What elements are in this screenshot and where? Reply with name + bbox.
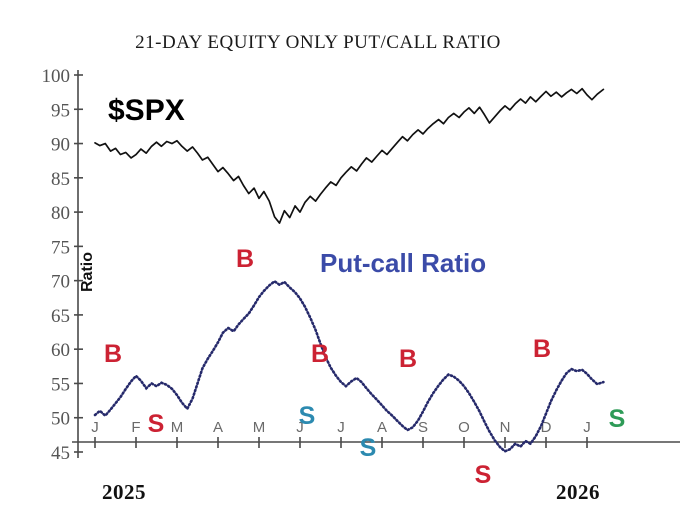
y-axis-tick-label: 50 [51,409,70,430]
sell-marker: S [609,405,626,433]
y-axis-tick-label: 45 [51,443,70,464]
y-axis-tick-label: 90 [51,135,70,156]
put-call-ratio-series-label: Put-call Ratio [320,248,486,278]
x-axis-month-label: O [458,419,470,436]
chart-svg: 21-DAY EQUITY ONLY PUT/CALL RATIO 455055… [0,0,700,525]
y-axis-title: Ratio [79,252,96,292]
x-axis-month-label: S [418,419,428,436]
x-axis-month-label: A [377,419,387,436]
x-axis-month-label: J [337,419,345,436]
buy-marker: B [236,245,254,273]
x-axis-month-label: A [213,419,223,436]
x-axis-month-label: M [253,419,266,436]
year-label-2025: 2025 [102,480,146,504]
y-axis-tick-label: 55 [51,374,70,395]
x-axis-month-label: J [583,419,591,436]
buy-marker: B [104,340,122,368]
x-axis-month-label: F [131,419,140,436]
buy-marker: B [399,345,417,373]
x-axis-month-label: N [500,419,511,436]
y-axis-tick-label: 75 [51,237,70,258]
sell-marker: S [360,434,377,462]
year-label-2026: 2026 [556,480,600,504]
sell-marker: S [299,402,316,430]
x-axis-month-label: J [91,419,99,436]
y-axis-tick-label: 80 [51,203,70,224]
sell-marker: S [475,461,492,489]
chart-container: 21-DAY EQUITY ONLY PUT/CALL RATIO 455055… [0,0,700,525]
y-axis-tick-label: 85 [51,169,70,190]
x-axis-month-label: M [171,419,184,436]
buy-marker: B [533,335,551,363]
sell-marker: S [148,410,165,438]
chart-title: 21-DAY EQUITY ONLY PUT/CALL RATIO [135,32,501,53]
y-axis-tick-label: 70 [51,272,70,293]
y-axis-tick-label: 65 [51,306,70,327]
buy-marker: B [311,340,329,368]
y-axis-tick-label: 95 [51,100,70,121]
y-axis-tick-label: 100 [42,66,71,87]
spx-series-label: $SPX [108,94,185,127]
y-axis-tick-label: 60 [51,340,70,361]
